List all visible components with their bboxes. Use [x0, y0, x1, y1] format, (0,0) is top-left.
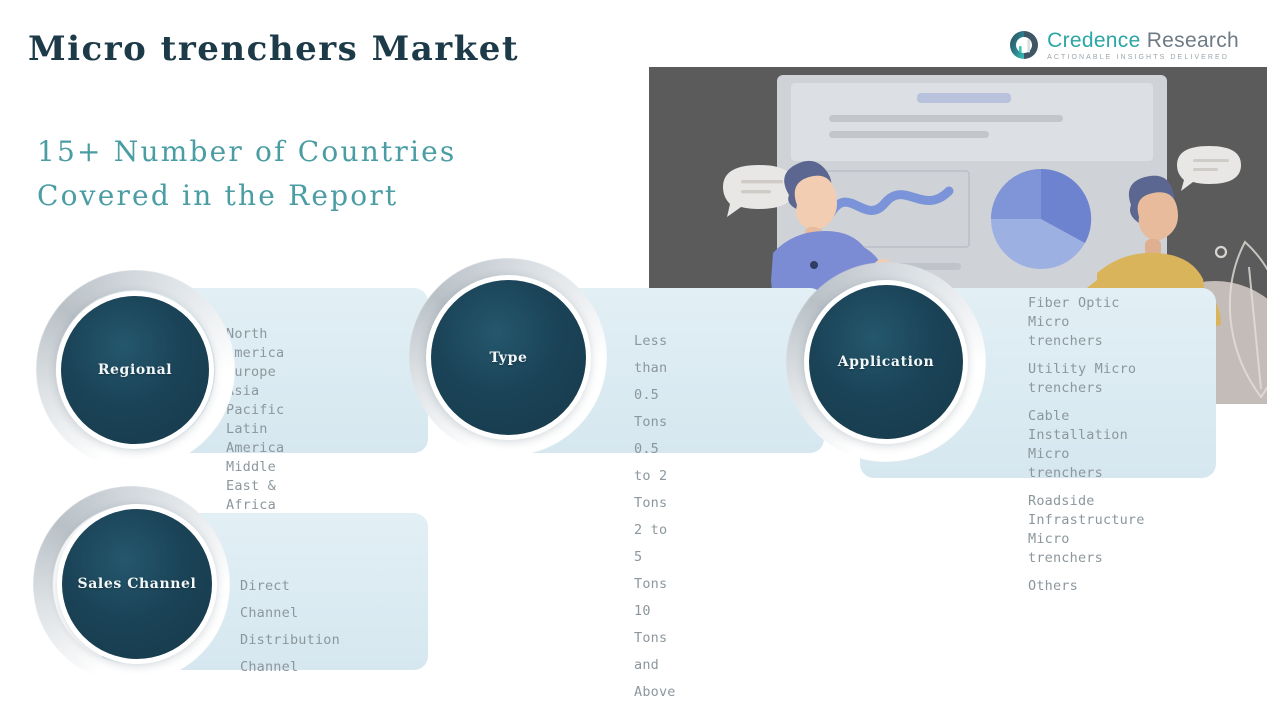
bar-chart-circle-icon — [1008, 29, 1040, 61]
list-item: Others — [1028, 577, 1145, 596]
list-item: Less than 0.5 Tons — [634, 328, 676, 436]
logo-name-part2: Research — [1147, 29, 1239, 52]
regional-label: Regional — [98, 362, 172, 378]
logo-tagline: Actionable Insights Delivered — [1047, 54, 1239, 61]
list-item: Asia Pacific — [226, 382, 284, 420]
sales-channel-circle[interactable]: Sales Channel — [62, 509, 212, 659]
list-item: Middle East & Africa — [226, 458, 284, 515]
list-item: 0.5 to 2 Tons — [634, 436, 676, 517]
logo-name: Credence Research — [1047, 30, 1239, 51]
type-item-list: Less than 0.5 Tons 0.5 to 2 Tons 2 to 5 … — [634, 328, 676, 706]
regional-item-list: North America Europe Asia Pacific Latin … — [226, 325, 284, 515]
countries-covered-subtitle: 15+ Number of Countries Covered in the R… — [37, 130, 577, 218]
list-item: Latin America — [226, 420, 284, 458]
list-item: North America — [226, 325, 284, 363]
type-label: Type — [489, 350, 527, 366]
type-circle[interactable]: Type — [431, 280, 586, 435]
sales-channel-label: Sales Channel — [78, 576, 197, 592]
regional-circle[interactable]: Regional — [61, 296, 209, 444]
application-label: Application — [838, 354, 935, 370]
credence-research-logo[interactable]: Credence Research Actionable Insights De… — [1008, 29, 1239, 61]
list-item: Direct Channel — [240, 573, 340, 627]
page-title: Micro trenchers Market — [28, 29, 519, 69]
logo-name-part1: Credence — [1047, 29, 1140, 52]
list-item: Roadside Infrastructure Micro trenchers — [1028, 492, 1145, 568]
sales-channel-item-list: Direct Channel Distribution Channel — [240, 573, 340, 681]
list-item: 10 Tons and Above — [634, 598, 676, 706]
logo-text: Credence Research Actionable Insights De… — [1047, 30, 1239, 61]
list-item: Fiber Optic Micro trenchers — [1028, 294, 1145, 351]
list-item: 2 to 5 Tons — [634, 517, 676, 598]
slide-canvas: Micro trenchers Market 15+ Number of Cou… — [0, 0, 1267, 713]
application-item-list: Fiber Optic Micro trenchers Utility Micr… — [1028, 294, 1145, 596]
list-item: Cable Installation Micro trenchers — [1028, 407, 1145, 483]
list-item: Distribution Channel — [240, 627, 340, 681]
list-item: Utility Micro trenchers — [1028, 360, 1145, 398]
application-circle[interactable]: Application — [809, 285, 963, 439]
